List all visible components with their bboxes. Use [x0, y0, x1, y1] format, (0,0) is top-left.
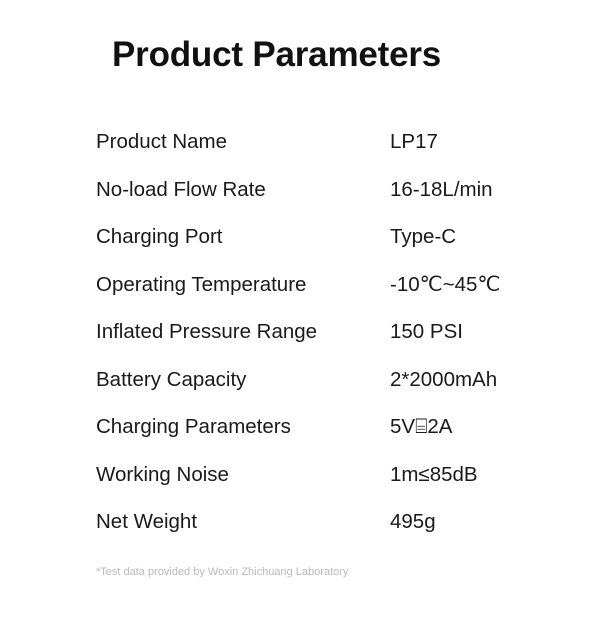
- param-label-inflated-pressure-range: Inflated Pressure Range: [96, 318, 390, 345]
- param-value-product-name: LP17: [390, 128, 516, 155]
- table-row: Charging Parameters 5V⌸2A: [96, 413, 516, 461]
- param-label-battery-capacity: Battery Capacity: [96, 366, 390, 393]
- param-value-battery-capacity: 2*2000mAh: [390, 366, 516, 393]
- param-value-inflated-pressure-range: 150 PSI: [390, 318, 516, 345]
- param-label-charging-parameters: Charging Parameters: [96, 413, 390, 440]
- table-row: Charging Port Type-C: [96, 223, 516, 271]
- param-label-net-weight: Net Weight: [96, 508, 390, 535]
- param-label-product-name: Product Name: [96, 128, 390, 155]
- param-label-working-noise: Working Noise: [96, 461, 390, 488]
- param-value-charging-parameters: 5V⌸2A: [390, 413, 516, 440]
- param-value-no-load-flow-rate: 16-18L/min: [390, 176, 516, 203]
- parameters-table: Product Name LP17 No-load Flow Rate 16-1…: [96, 128, 516, 556]
- param-value-operating-temperature: -10℃~45℃: [390, 271, 516, 298]
- table-row: Operating Temperature -10℃~45℃: [96, 271, 516, 319]
- table-row: Net Weight 495g: [96, 508, 516, 556]
- param-value-working-noise: 1m≤85dB: [390, 461, 516, 488]
- table-row: Inflated Pressure Range 150 PSI: [96, 318, 516, 366]
- table-row: Working Noise 1m≤85dB: [96, 461, 516, 509]
- product-parameters-sheet: Product Parameters Product Name LP17 No-…: [0, 0, 600, 620]
- param-label-charging-port: Charging Port: [96, 223, 390, 250]
- param-value-charging-port: Type-C: [390, 223, 516, 250]
- footnote-test-data-disclaimer: *Test data provided by Woxin Zhichuang L…: [96, 565, 348, 580]
- param-label-operating-temperature: Operating Temperature: [96, 271, 390, 298]
- param-value-net-weight: 495g: [390, 508, 516, 535]
- table-row: Battery Capacity 2*2000mAh: [96, 366, 516, 414]
- table-row: Product Name LP17: [96, 128, 516, 176]
- param-label-no-load-flow-rate: No-load Flow Rate: [96, 176, 390, 203]
- table-row: No-load Flow Rate 16-18L/min: [96, 176, 516, 224]
- page-title: Product Parameters: [112, 33, 441, 77]
